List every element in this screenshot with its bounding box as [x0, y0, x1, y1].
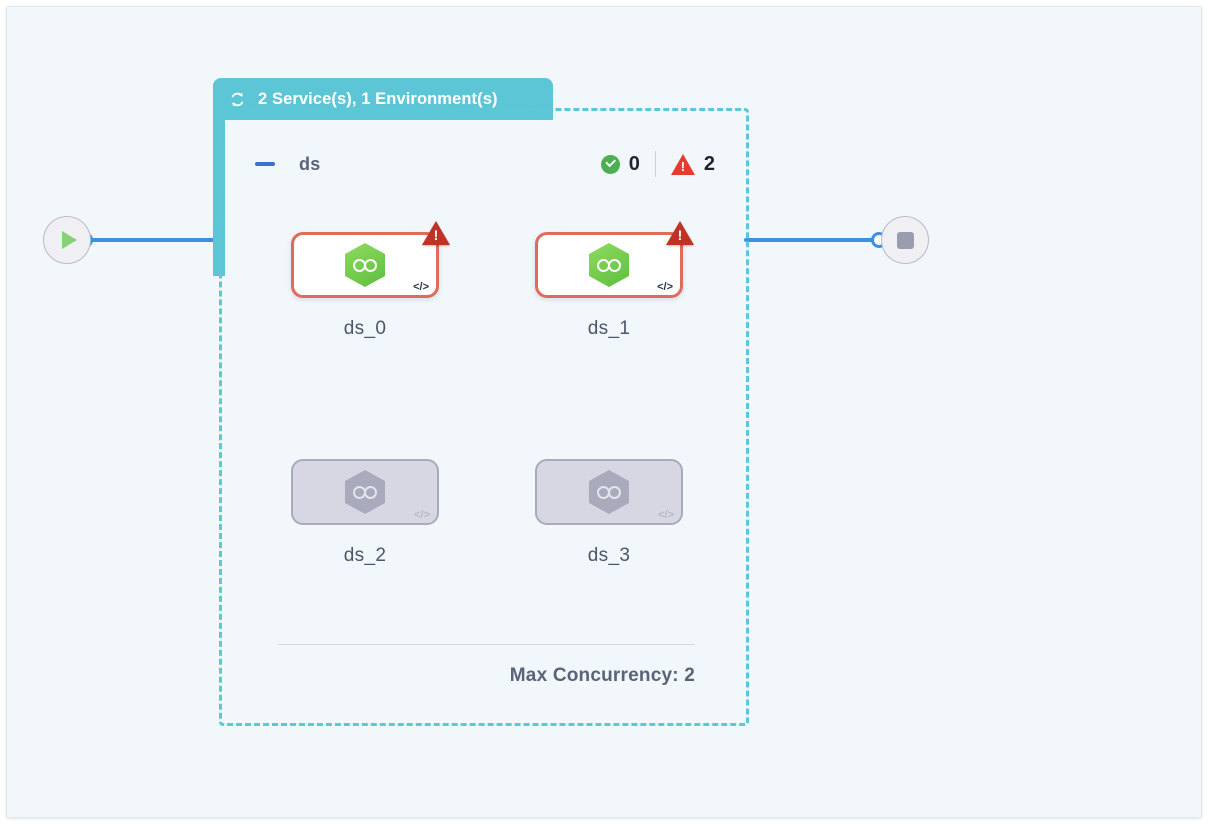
- end-node[interactable]: [881, 216, 929, 264]
- task-node-ds_0[interactable]: </> ds_0: [291, 232, 439, 340]
- task-node-ds_1[interactable]: </> ds_1: [535, 232, 683, 340]
- hexagon-infinity-icon: [589, 470, 629, 514]
- workflow-canvas[interactable]: 2 Service(s), 1 Environment(s) ds 0 2 </…: [6, 6, 1202, 818]
- check-circle-icon: [601, 155, 620, 174]
- edge-start-to-group[interactable]: [85, 238, 217, 242]
- warning-triangle-icon: [422, 221, 450, 245]
- group-tab-label: 2 Service(s), 1 Environment(s): [258, 90, 498, 109]
- minus-icon[interactable]: [255, 162, 275, 166]
- play-icon: [62, 231, 77, 249]
- hexagon-infinity-icon: [589, 243, 629, 287]
- warn-count: 2: [704, 153, 715, 176]
- task-label: ds_3: [535, 545, 683, 567]
- hexagon-infinity-icon: [345, 470, 385, 514]
- group-footer-divider: [278, 644, 695, 645]
- task-node-ds_3[interactable]: </> ds_3: [535, 459, 683, 567]
- task-node-ds_2[interactable]: </> ds_2: [291, 459, 439, 567]
- code-glyph-icon: </>: [413, 281, 429, 293]
- task-label: ds_1: [535, 318, 683, 340]
- start-node[interactable]: [43, 216, 91, 264]
- task-card[interactable]: </>: [291, 459, 439, 525]
- status-divider: [655, 151, 656, 177]
- edge-group-to-end[interactable]: [744, 238, 879, 242]
- task-label: ds_2: [291, 545, 439, 567]
- ok-count: 0: [629, 153, 640, 176]
- warning-triangle-icon: [666, 221, 694, 245]
- task-label: ds_0: [291, 318, 439, 340]
- task-card[interactable]: </>: [291, 232, 439, 298]
- code-glyph-icon: </>: [657, 281, 673, 293]
- task-card[interactable]: </>: [535, 459, 683, 525]
- code-glyph-icon: </>: [658, 509, 674, 521]
- service-group-container[interactable]: [219, 108, 749, 726]
- service-name: ds: [299, 154, 320, 175]
- warning-triangle-icon: [671, 154, 695, 175]
- loop-icon: [227, 89, 248, 110]
- task-card[interactable]: </>: [535, 232, 683, 298]
- stop-icon: [897, 232, 914, 249]
- hexagon-infinity-icon: [345, 243, 385, 287]
- status-group: 0 2: [601, 151, 715, 177]
- max-concurrency-label: Max Concurrency: 2: [295, 665, 695, 687]
- service-header: ds 0 2: [255, 147, 715, 181]
- code-glyph-icon: </>: [414, 509, 430, 521]
